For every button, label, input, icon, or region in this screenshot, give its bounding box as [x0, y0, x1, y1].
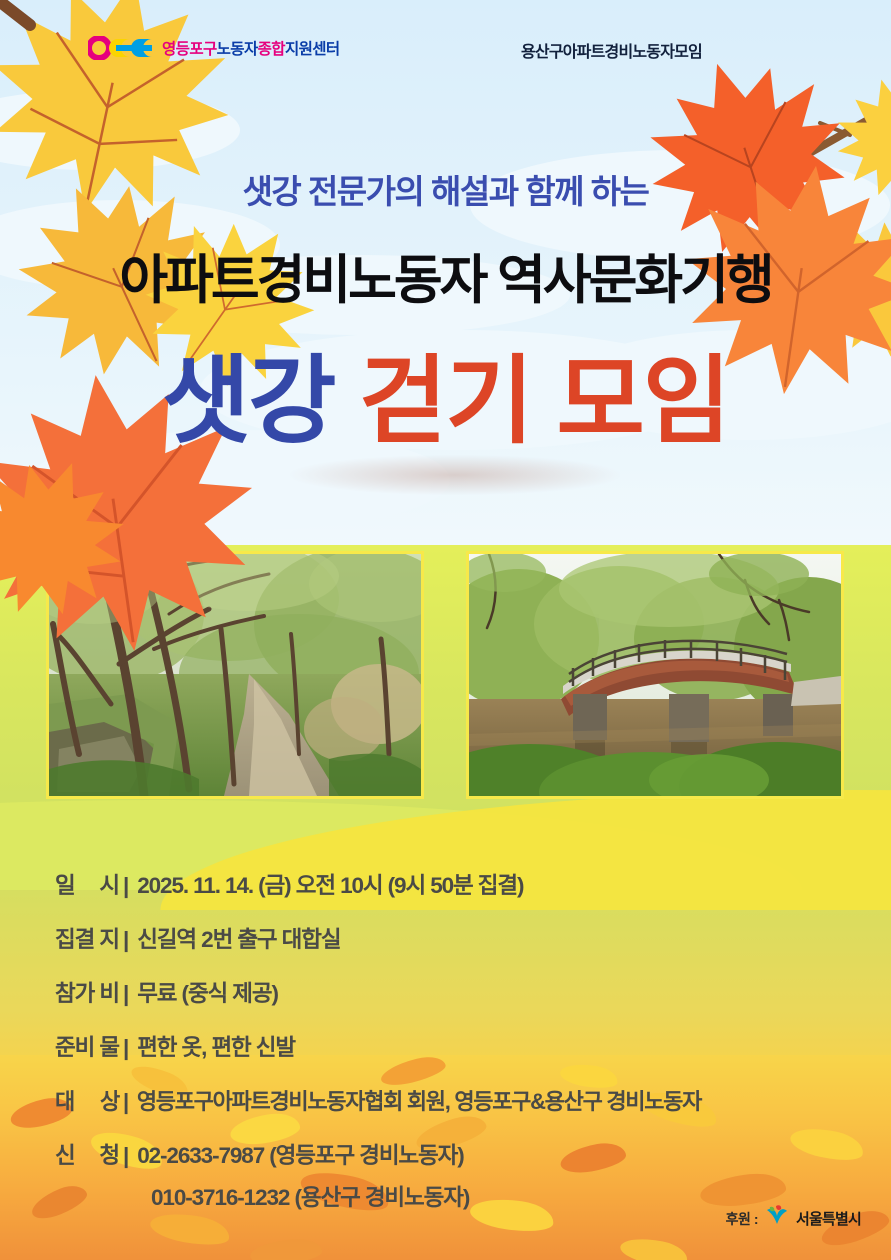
- photo-arched-bridge: [466, 551, 844, 799]
- detail-label-a: 준비: [55, 1030, 94, 1062]
- detail-label-target: 대상: [55, 1084, 119, 1116]
- detail-label-datetime: 일시: [55, 868, 119, 900]
- detail-label-b: 비: [99, 976, 119, 1008]
- occ-seg-4: 지원센터: [285, 41, 340, 58]
- occ-seg-2: 노동자: [217, 41, 258, 58]
- occ-center-logo: 영등포구노동자종합지원센터: [88, 36, 340, 60]
- detail-row-fee: 참가비 | 무료 (중식 제공): [55, 976, 885, 1008]
- detail-value-target: 영등포구아파트경비노동자협회 회원, 영등포구&용산구 경비노동자: [137, 1084, 701, 1116]
- detail-value-items: 편한 옷, 편한 신발: [137, 1030, 295, 1062]
- occ-seg-3: 종합: [258, 41, 285, 58]
- title-shadow-decoration: [290, 455, 620, 495]
- detail-value-apply-phone-2[interactable]: 010-3716-1232 (용산구 경비노동자): [151, 1180, 469, 1212]
- detail-value-meeting-place: 신길역 2번 출구 대합실: [137, 922, 340, 954]
- detail-label-items: 준비물: [55, 1030, 119, 1062]
- detail-value-fee: 무료 (중식 제공): [137, 976, 278, 1008]
- seoul-city-logo-icon: [764, 1204, 790, 1233]
- photo-arched-bridge-image: [469, 554, 841, 796]
- detail-label-meeting-place: 집결지: [55, 922, 119, 954]
- hero-subtitle: 샛강 전문가의 해설과 함께 하는: [0, 165, 891, 213]
- yongsan-group-logo-text: 용산구아파트경비노동자모임: [521, 38, 702, 62]
- detail-value-datetime: 2025. 11. 14. (금) 오전 10시 (9시 50분 집결): [137, 868, 523, 900]
- detail-separator: |: [123, 873, 128, 899]
- detail-label-b: 물: [99, 1030, 119, 1062]
- detail-value-apply-phone-1[interactable]: 02-2633-7987 (영등포구 경비노동자): [137, 1138, 463, 1170]
- detail-separator: |: [123, 1035, 128, 1061]
- tree-branch-icon: [0, 0, 60, 55]
- sponsor-footer: 후원 : 서울특별시: [726, 1204, 861, 1233]
- detail-separator: |: [123, 927, 128, 953]
- detail-row-meeting-place: 집결지 | 신길역 2번 출구 대합실: [55, 922, 885, 954]
- detail-separator: |: [123, 1089, 128, 1115]
- hero-title-big: 샛강 걷기 모임: [0, 352, 891, 453]
- poster-root: 영등포구노동자종합지원센터 용산구아파트경비노동자모임 샛강 전문가의 해설과 …: [0, 0, 891, 1260]
- detail-label-fee: 참가비: [55, 976, 119, 1008]
- detail-label-a: 대: [55, 1084, 74, 1116]
- detail-label-a: 집결: [55, 922, 94, 954]
- detail-separator: |: [123, 981, 128, 1007]
- hero-title-main: 아파트경비노동자 역사문화기행: [0, 238, 891, 314]
- sponsor-label: 후원 :: [726, 1209, 758, 1229]
- detail-row-target: 대상 | 영등포구아파트경비노동자협회 회원, 영등포구&용산구 경비노동자: [55, 1084, 885, 1116]
- detail-label-b: 상: [100, 1084, 119, 1116]
- occ-seg-1: 영등포구: [162, 41, 217, 58]
- detail-row-datetime: 일시 | 2025. 11. 14. (금) 오전 10시 (9시 50분 집결…: [55, 868, 885, 900]
- hero-title-big-part2: 걷기 모임: [359, 348, 729, 455]
- detail-label-a: 참가: [55, 976, 94, 1008]
- detail-label-b: 청: [99, 1138, 119, 1170]
- detail-label-a: 신: [55, 1138, 75, 1170]
- hero-title-big-part1: 샛강: [162, 348, 335, 455]
- detail-label-apply: 신청: [55, 1138, 119, 1170]
- occ-logo-mark-icon: [88, 36, 154, 60]
- detail-label-b: 시: [99, 868, 119, 900]
- detail-row-apply[interactable]: 신청 | 02-2633-7987 (영등포구 경비노동자): [55, 1138, 885, 1170]
- occ-logo-text: 영등포구노동자종합지원센터: [162, 37, 340, 59]
- sponsor-name: 서울특별시: [796, 1208, 861, 1229]
- detail-label-a: 일: [55, 868, 75, 900]
- detail-row-items: 준비물 | 편한 옷, 편한 신발: [55, 1030, 885, 1062]
- detail-separator: |: [123, 1143, 128, 1169]
- detail-label-b: 지: [99, 922, 119, 954]
- event-details-list: 일시 | 2025. 11. 14. (금) 오전 10시 (9시 50분 집결…: [55, 868, 885, 1234]
